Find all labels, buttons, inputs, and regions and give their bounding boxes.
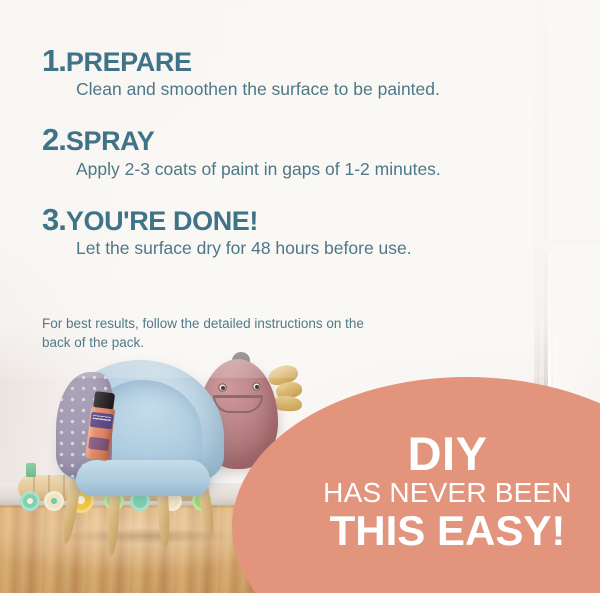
step-item-3: 3.YOU'RE DONE! Let the surface dry for 4… <box>42 203 562 260</box>
train-chimney <box>26 463 36 477</box>
step-1-heading: 1.PREPARE <box>42 44 562 77</box>
step-1-description: Clean and smoothen the surface to be pai… <box>76 79 562 101</box>
step-3-number: 3. <box>42 202 66 237</box>
step-item-2: 2.SPRAY Apply 2-3 coats of paint in gaps… <box>42 123 562 180</box>
banner-line-this-easy: THIS EASY! <box>300 510 595 552</box>
step-3-heading: 3.YOU'RE DONE! <box>42 203 562 236</box>
spray-can-lower-label <box>88 437 109 451</box>
instruction-steps-list: 1.PREPARE Clean and smoothen the surface… <box>42 44 562 260</box>
note-line-2: back of the pack. <box>42 333 462 352</box>
step-item-1: 1.PREPARE Clean and smoothen the surface… <box>42 44 562 101</box>
diy-banner-text: DIY HAS NEVER BEEN THIS EASY! <box>300 430 595 552</box>
poster-canvas: 1.PREPARE Clean and smoothen the surface… <box>0 0 600 593</box>
step-1-title: PREPARE <box>66 47 192 77</box>
spray-can-cap <box>93 391 115 409</box>
train-wheel-1-hub-icon <box>27 498 33 504</box>
step-1-number: 1. <box>42 43 66 78</box>
best-results-note: For best results, follow the detailed in… <box>42 314 462 352</box>
step-2-heading: 2.SPRAY <box>42 123 562 156</box>
note-line-1: For best results, follow the detailed in… <box>42 314 462 333</box>
toy-character-pupil-right-icon <box>255 385 259 389</box>
step-2-description: Apply 2-3 coats of paint in gaps of 1-2 … <box>76 159 562 181</box>
step-3-description: Let the surface dry for 48 hours before … <box>76 238 562 260</box>
step-2-title: SPRAY <box>66 126 155 156</box>
banner-line-diy: DIY <box>300 430 595 477</box>
banner-line-has-never-been: HAS NEVER BEEN <box>300 479 595 507</box>
armchair-seat-cushion <box>76 460 210 496</box>
step-2-number: 2. <box>42 122 66 157</box>
armchair <box>50 360 230 540</box>
step-3-title: YOU'RE DONE! <box>66 206 258 236</box>
